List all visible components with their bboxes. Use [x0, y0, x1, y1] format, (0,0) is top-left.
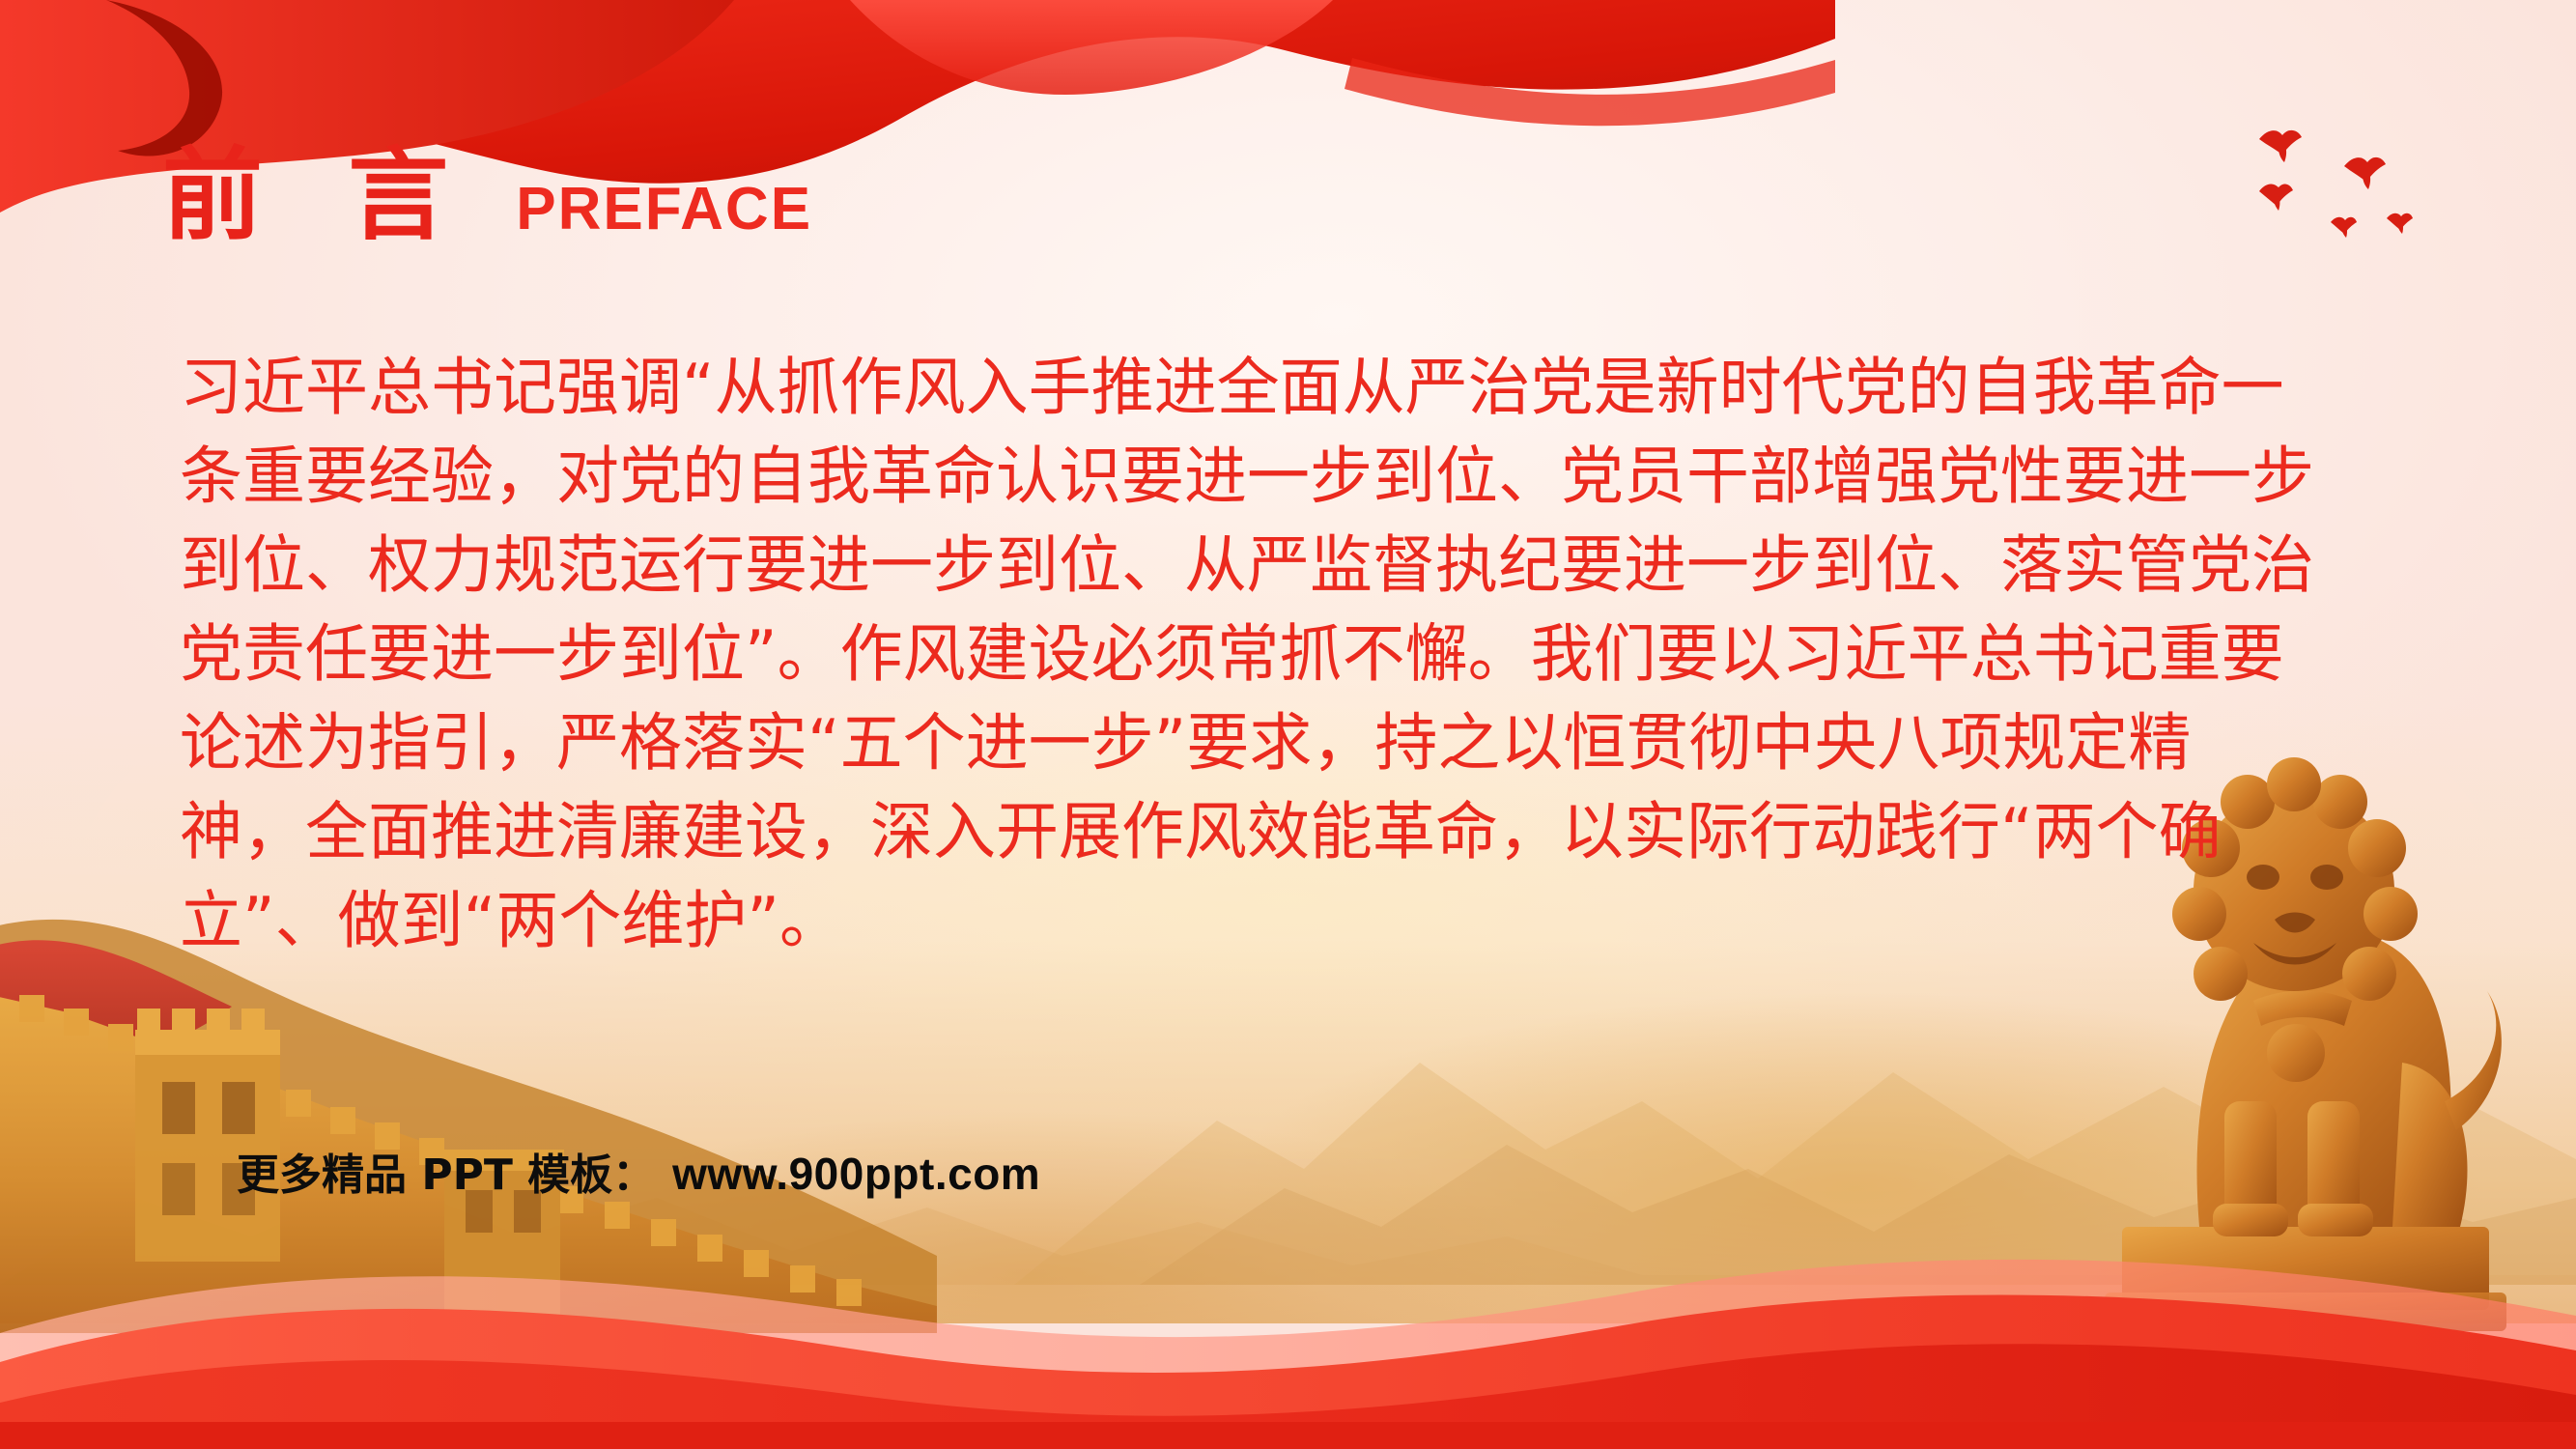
- page-title-cn: 前 言: [162, 145, 473, 245]
- flying-doves-icon: [2230, 108, 2462, 263]
- page-header: 前 言 PREFACE: [162, 145, 812, 245]
- body-line: 党责任要进一步到位”。作风建设必须常抓不懈。我们要以习近平总书记重要: [180, 611, 2420, 699]
- footer-url[interactable]: www.900ppt.com: [672, 1148, 1040, 1200]
- body-line: 立”、做到“两个维护”。: [180, 877, 2420, 966]
- bottom-red-waves-icon: [0, 1043, 2576, 1449]
- body-line: 条重要经验，对党的自我革命认识要进一步到位、党员干部增强党性要进一步: [180, 433, 2420, 522]
- body-line: 论述为指引，严格落实“五个进一步”要求，持之以恒贯彻中央八项规定精: [180, 699, 2420, 788]
- body-line: 神，全面推进清廉建设，深入开展作风效能革命，以实际行动践行“两个确: [180, 788, 2420, 877]
- footer-credit: 更多精品 PPT 模板： www.900ppt.com: [237, 1140, 1040, 1202]
- footer-label: 更多精品 PPT 模板：: [237, 1140, 655, 1202]
- body-line: 习近平总书记强调“从抓作风入手推进全面从严治党是新时代党的自我革命一: [180, 344, 2420, 433]
- preface-slide: 前 言 PREFACE 习近平总书记强调“从抓作风入手推进全面从严治党是新时代党…: [0, 0, 2576, 1449]
- preface-body: 习近平总书记强调“从抓作风入手推进全面从严治党是新时代党的自我革命一 条重要经验…: [180, 344, 2420, 966]
- page-title-en: PREFACE: [516, 180, 812, 245]
- body-line: 到位、权力规范运行要进一步到位、从严监督执纪要进一步到位、落实管党治: [180, 522, 2420, 611]
